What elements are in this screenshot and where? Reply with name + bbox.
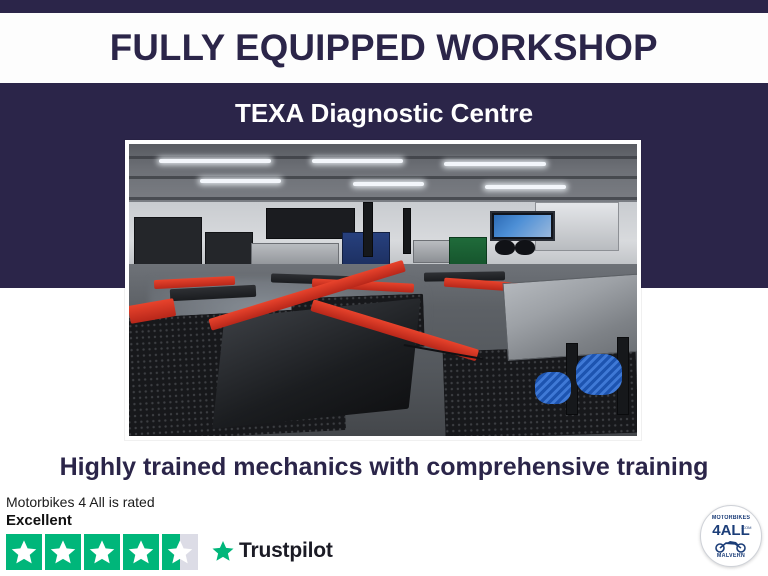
star-icon bbox=[88, 538, 116, 566]
wall-monitor bbox=[490, 211, 555, 241]
trustpilot-rated-text: Motorbikes 4 All is rated bbox=[6, 494, 336, 511]
star-tile bbox=[6, 534, 42, 570]
trustpilot-star-rating bbox=[6, 534, 198, 570]
star-icon bbox=[49, 538, 77, 566]
top-navy-band bbox=[0, 0, 768, 13]
workshop-photo-frame bbox=[125, 140, 641, 440]
helmet bbox=[495, 240, 515, 255]
ceiling-light bbox=[312, 159, 403, 163]
tagline-text: Highly trained mechanics with comprehens… bbox=[60, 453, 709, 482]
hoist-column bbox=[363, 202, 373, 257]
air-hose bbox=[535, 372, 571, 404]
star-icon bbox=[166, 538, 194, 566]
monitor-screen bbox=[494, 215, 551, 237]
hoist-column bbox=[403, 208, 411, 254]
badge-main-text: 4ALL bbox=[701, 523, 761, 538]
star-tile-half bbox=[162, 534, 198, 570]
ceiling-beam bbox=[129, 197, 637, 200]
trustpilot-star-icon bbox=[211, 539, 235, 563]
page-title: FULLY EQUIPPED WORKSHOP bbox=[110, 27, 658, 69]
helmet bbox=[515, 240, 535, 255]
trustpilot-rating-word: Excellent bbox=[6, 512, 336, 530]
badge-number: 4 bbox=[712, 522, 720, 539]
ceiling-light bbox=[200, 179, 281, 183]
trustpilot-logo[interactable]: Trustpilot bbox=[211, 539, 333, 563]
star-icon bbox=[10, 538, 38, 566]
badge-domain-text: .COM bbox=[741, 525, 751, 530]
motorcycle-icon bbox=[714, 539, 748, 553]
trustpilot-widget[interactable]: Motorbikes 4 All is rated Excellent bbox=[6, 494, 336, 576]
star-tile bbox=[123, 534, 159, 570]
headline-band: FULLY EQUIPPED WORKSHOP bbox=[0, 13, 768, 83]
trustpilot-logo-text: Trustpilot bbox=[239, 539, 333, 563]
tool-pegboard bbox=[266, 208, 354, 239]
star-icon bbox=[127, 538, 155, 566]
badge-bottom-text: MALVERN bbox=[704, 553, 758, 559]
star-tile bbox=[45, 534, 81, 570]
star-tile bbox=[84, 534, 120, 570]
air-hose bbox=[576, 354, 622, 395]
brand-logo-badge: MOTORBIKES 4ALL .COM MALVERN bbox=[700, 505, 762, 567]
ceiling-light bbox=[444, 162, 546, 166]
poster-canvas: FULLY EQUIPPED WORKSHOP TEXA Diagnostic … bbox=[0, 0, 768, 576]
workshop-photo bbox=[129, 144, 637, 436]
badge-top-text: MOTORBIKES bbox=[704, 515, 758, 521]
ceiling-light bbox=[159, 159, 271, 163]
page-subtitle: TEXA Diagnostic Centre bbox=[235, 98, 533, 129]
tagline-band: Highly trained mechanics with comprehens… bbox=[0, 445, 768, 489]
subtitle-band: TEXA Diagnostic Centre bbox=[0, 88, 768, 138]
ceiling-light bbox=[485, 185, 566, 189]
ceiling-light bbox=[353, 182, 424, 186]
